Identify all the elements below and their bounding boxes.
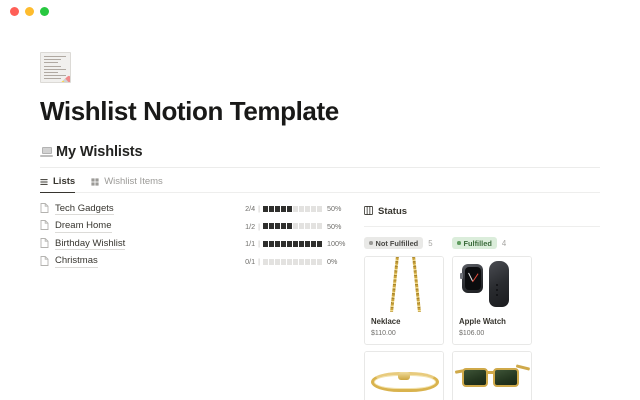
page-icon [40,253,49,271]
laptop-icon [40,147,53,157]
progress-segment [275,223,280,229]
progress-segment [263,223,268,229]
list-item-percent: 50% [327,204,346,213]
memo-icon[interactable] [40,52,71,83]
progress-segment [287,223,292,229]
list-item-name[interactable]: Christmas [55,255,98,268]
close-button[interactable] [10,7,19,16]
tab-wishlist-items[interactable]: Wishlist Items [91,176,163,193]
progress-segment [269,241,274,247]
card-price: $110.00 [371,330,437,337]
progress-segment [293,259,298,265]
progress-segment [293,241,298,247]
list-item-progress: 1/2 | 50% [245,222,346,231]
progress-segment [263,206,268,212]
status-tab[interactable]: Status [364,202,404,227]
progress-bar [263,241,322,247]
progress-segment [305,241,310,247]
list-item-progress: 1/1 | 100% [245,239,346,248]
card-image-apple-watch [453,257,531,312]
card-item[interactable]: Bracelet $15.95 [364,351,444,400]
progress-segment [281,241,286,247]
progress-segment [269,259,274,265]
progress-segment [311,241,316,247]
status-badge-label: Not Fulfilled [376,239,419,248]
progress-segment [275,259,280,265]
page-title: Wishlist Notion Template [40,97,600,126]
list-item-fraction: 1/2 [245,222,255,231]
progress-segment [293,223,298,229]
status-dot [369,241,373,245]
progress-segment [269,206,274,212]
progress-segment [305,223,310,229]
progress-bar [263,206,322,212]
memo-lines [44,56,66,82]
card-item[interactable]: Neklace $110.00 [364,256,444,345]
page-icon [40,200,49,218]
progress-segment [287,241,292,247]
progress-bar [263,259,322,265]
card-title: Apple Watch [459,317,525,326]
zoom-button[interactable] [40,7,49,16]
window-titlebar [0,0,640,22]
separator: | [258,222,260,231]
list-item[interactable]: Birthday Wishlist 1/1 | 100% [40,237,346,250]
progress-segment [305,206,310,212]
column-count: 4 [502,239,506,248]
tab-lists[interactable]: Lists [40,176,75,193]
progress-segment [287,259,292,265]
separator: | [258,239,260,248]
progress-segment [317,241,322,247]
section-heading: My Wishlists [40,144,600,160]
status-panel: Status Not Fulfilled 5 [346,202,600,400]
progress-segment [269,223,274,229]
page-icon [40,235,49,253]
progress-segment [299,259,304,265]
column-header: Not Fulfilled 5 [364,237,444,249]
list-item-percent: 0% [327,257,346,266]
card-image-sunglasses [453,352,531,400]
minimize-button[interactable] [25,7,34,16]
progress-segment [299,241,304,247]
list-item-progress: 0/1 | 0% [245,257,346,266]
board-column-not-fulfilled: Not Fulfilled 5 Neklace $110.00 [364,237,444,400]
status-badge-label: Fulfilled [464,239,492,248]
board-icon [364,202,373,220]
tab-lists-label: Lists [53,176,75,187]
card-image-bracelet [365,352,443,400]
list-item[interactable]: Christmas 0/1 | 0% [40,255,346,268]
progress-segment [281,206,286,212]
section-title: My Wishlists [56,144,143,160]
progress-segment [293,206,298,212]
progress-segment [281,259,286,265]
list-item-percent: 50% [327,222,346,231]
progress-segment [299,223,304,229]
progress-segment [305,259,310,265]
progress-segment [311,259,316,265]
card-title: Neklace [371,317,437,326]
card-body: Apple Watch $106.00 [453,312,531,344]
progress-segment [317,223,322,229]
progress-segment [299,206,304,212]
separator: | [258,257,260,266]
status-dot [457,241,461,245]
card-body: Neklace $110.00 [365,312,443,344]
card-image-necklace [365,257,443,312]
progress-segment [311,223,316,229]
grid-icon [91,178,99,186]
content-columns: Tech Gadgets 2/4 | 50% Dream Home [40,193,600,400]
list-item-name[interactable]: Dream Home [55,220,112,233]
column-count: 5 [428,239,432,248]
status-tab-label: Status [378,206,407,217]
list-item-fraction: 1/1 [245,239,255,248]
status-badge[interactable]: Not Fulfilled [364,237,423,249]
list-item[interactable]: Dream Home 1/2 | 50% [40,220,346,233]
progress-segment [263,241,268,247]
list-item-name[interactable]: Birthday Wishlist [55,238,125,251]
list-item-fraction: 0/1 [245,257,255,266]
column-header: Fulfilled 4 [452,237,532,249]
progress-segment [263,259,268,265]
card-item[interactable]: Sunglasses $182.00 [452,351,532,400]
page-icon [40,217,49,235]
list-item-progress: 2/4 | 50% [245,204,346,213]
list-item[interactable]: Tech Gadgets 2/4 | 50% [40,202,346,215]
view-tabs: Lists Wishlist Items [40,168,600,193]
list-icon [40,178,48,186]
progress-segment [275,206,280,212]
list-item-name[interactable]: Tech Gadgets [55,203,114,216]
progress-segment [281,223,286,229]
card-item[interactable]: Apple Watch $106.00 [452,256,532,345]
board-column-fulfilled: Fulfilled 4 [452,237,532,400]
progress-segment [275,241,280,247]
lists-panel: Tech Gadgets 2/4 | 50% Dream Home [40,202,346,400]
card-price: $106.00 [459,330,525,337]
list-item-percent: 100% [327,239,346,248]
progress-segment [317,206,322,212]
tab-wishlist-items-label: Wishlist Items [104,176,163,187]
separator: | [258,204,260,213]
status-badge[interactable]: Fulfilled [452,237,497,249]
status-board: Not Fulfilled 5 Neklace $110.00 [364,237,600,400]
app-window: Wishlist Notion Template My Wishlists Li… [0,0,640,400]
status-divider [364,226,600,227]
list-item-fraction: 2/4 [245,204,255,213]
progress-bar [263,223,322,229]
page-content: Wishlist Notion Template My Wishlists Li… [0,52,640,400]
progress-segment [317,259,322,265]
progress-segment [311,206,316,212]
progress-segment [287,206,292,212]
